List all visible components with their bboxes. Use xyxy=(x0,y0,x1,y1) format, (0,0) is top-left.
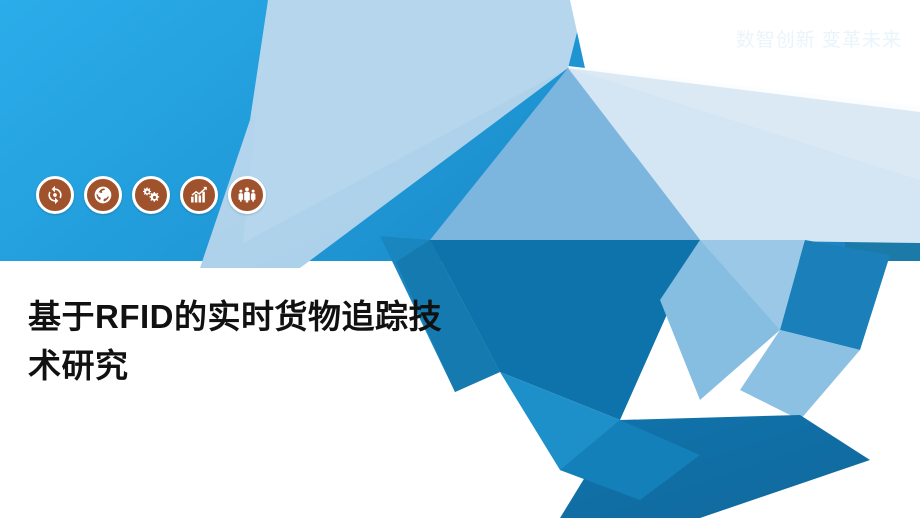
title-slide: 数智创新 变革未来 xyxy=(0,0,920,518)
refresh-cycle-icon xyxy=(45,185,65,205)
tagline-text: 数智创新 变革未来 xyxy=(736,25,902,52)
icon-badge-people-group[interactable] xyxy=(228,176,266,214)
title-line-2: 术研究 xyxy=(28,341,548,390)
page-title: 基于RFID的实时货物追踪技 术研究 xyxy=(28,292,548,390)
icon-badge-refresh-cycle[interactable] xyxy=(36,176,74,214)
icon-badge-globe[interactable] xyxy=(84,176,122,214)
gears-icon xyxy=(141,185,161,205)
background-artwork xyxy=(0,0,920,518)
bar-chart-icon xyxy=(189,185,209,205)
icon-badge-gears[interactable] xyxy=(132,176,170,214)
icon-strip xyxy=(36,176,266,214)
icon-badge-bar-chart[interactable] xyxy=(180,176,218,214)
title-line-1: 基于RFID的实时货物追踪技 xyxy=(28,292,548,341)
globe-icon xyxy=(93,185,113,205)
people-group-icon xyxy=(237,185,257,205)
